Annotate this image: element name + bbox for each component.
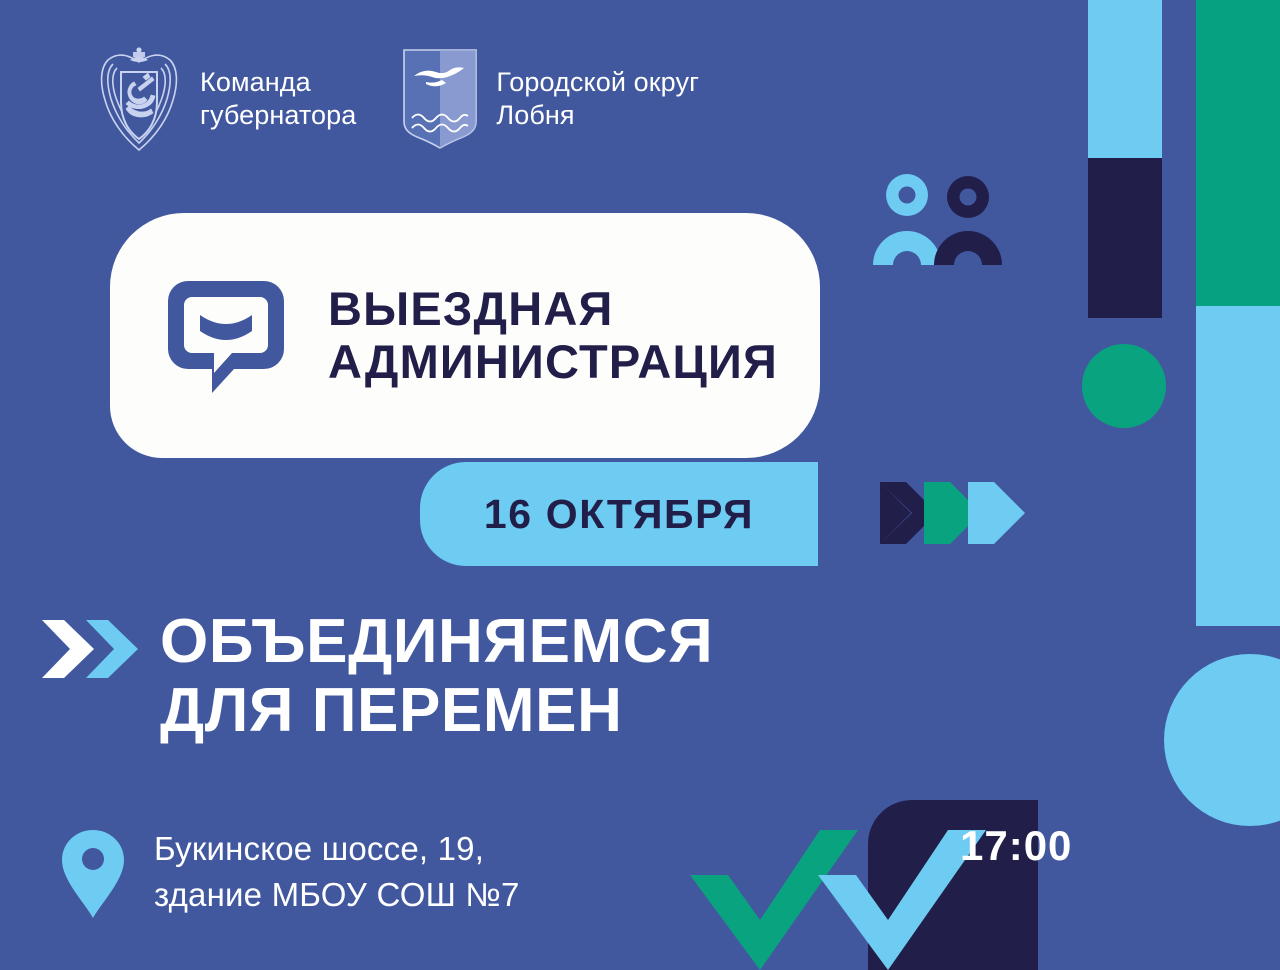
date-badge-label: 16 ОКТЯБРЯ	[484, 491, 754, 538]
map-pin-icon	[62, 830, 124, 918]
title-card-heading: ВЫЕЗДНАЯ АДМИНИСТРАЦИЯ	[328, 283, 778, 388]
decor-checkmarks	[690, 815, 1000, 970]
gov-team-logo-group: Команда губернатора	[96, 44, 356, 154]
decor-circle-green	[1082, 344, 1166, 428]
location-row: Букинское шоссе, 19, здание МБОУ СОШ №7	[62, 826, 520, 918]
decor-circle-light-blue	[1164, 654, 1280, 826]
location-address: Букинское шоссе, 19, здание МБОУ СОШ №7	[154, 826, 520, 917]
decor-band-light-blue-right	[1196, 306, 1280, 626]
title-card: ВЫЕЗДНАЯ АДМИНИСТРАЦИЯ	[110, 213, 820, 458]
decor-chevrons-left	[42, 618, 164, 680]
speech-bubble-icon	[162, 275, 290, 397]
gov-team-label: Команда губернатора	[200, 66, 356, 132]
header-logos: Команда губернатора Городской округ Лобн…	[96, 44, 699, 154]
decor-band-light-blue-top	[1088, 0, 1162, 158]
date-badge: 16 ОКТЯБРЯ	[420, 462, 818, 566]
district-logo-group: Городской округ Лобня	[402, 48, 699, 150]
headline: ОБЪЕДИНЯЕМСЯ ДЛЯ ПЕРЕМЕН	[160, 607, 880, 746]
two-people-icon	[868, 170, 1008, 265]
decor-band-navy-top	[1088, 158, 1162, 318]
poster-canvas: Команда губернатора Городской округ Лобн…	[0, 0, 1280, 970]
decor-band-green-right	[1196, 0, 1280, 306]
lobnya-coat-of-arms-icon	[402, 48, 478, 150]
moscow-oblast-coat-of-arms-icon	[96, 44, 182, 154]
district-label: Городской округ Лобня	[496, 66, 699, 132]
decor-chevrons-right	[880, 478, 1040, 548]
event-time: 17:00	[960, 822, 1072, 870]
